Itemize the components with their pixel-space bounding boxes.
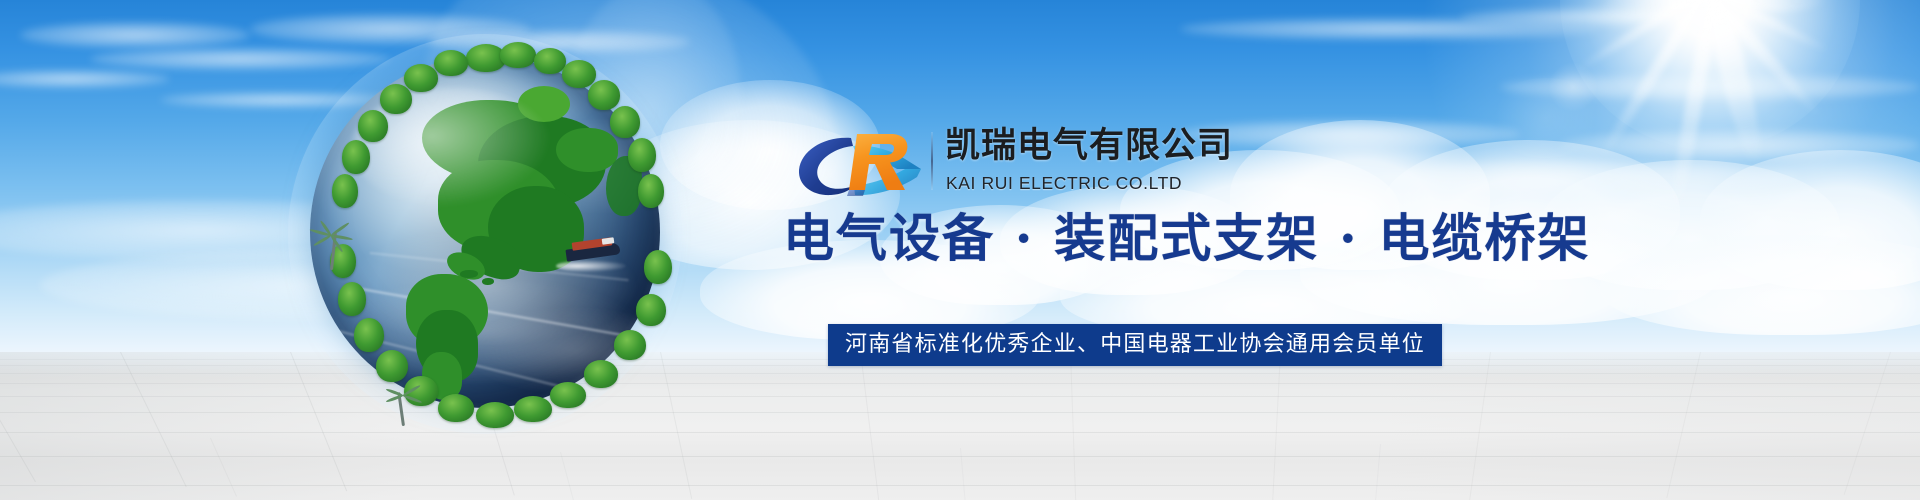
- tree-tuft: [434, 50, 468, 76]
- brand-block: 凯瑞电气有限公司 KAI RUI ELECTRIC CO.LTD 电气设备 · …: [793, 120, 1493, 370]
- tree-tuft: [636, 294, 666, 326]
- palm-tree: [312, 224, 352, 270]
- tree-tuft: [644, 250, 672, 284]
- tree-tuft: [638, 174, 664, 208]
- hero-tagline: 电气设备 · 装配式支架 · 电缆桥架: [783, 208, 1591, 270]
- tree-tuft: [338, 282, 366, 316]
- company-name-en: KAI RUI ELECTRIC CO.LTD: [946, 172, 1182, 194]
- tree-tuft: [588, 80, 620, 110]
- palm-tree: [384, 384, 424, 428]
- tree-tuft: [562, 60, 596, 88]
- tree-tuft: [500, 42, 536, 68]
- tree-tuft: [342, 140, 370, 174]
- tree-tuft: [550, 382, 586, 408]
- company-name-cn: 凯瑞电气有限公司: [945, 126, 1233, 166]
- tree-tuft: [438, 394, 474, 422]
- tree-tuft: [358, 110, 388, 142]
- certification-badge-text: 河南省标准化优秀企业、中国电器工业协会通用会员单位: [845, 332, 1425, 357]
- tree-tuft: [354, 318, 384, 352]
- tree-tuft: [514, 396, 552, 422]
- tree-tuft: [610, 106, 640, 138]
- tree-tuft: [584, 360, 618, 388]
- cloud-wisp: [20, 22, 250, 48]
- tree-tuft: [404, 64, 438, 92]
- tree-tuft: [614, 330, 646, 360]
- tree-tuft: [628, 138, 656, 172]
- tree-tuft: [476, 402, 514, 428]
- hero-banner: 凯瑞电气有限公司 KAI RUI ELECTRIC CO.LTD 电气设备 · …: [0, 0, 1920, 500]
- palm-frond: [313, 234, 332, 247]
- certification-badge: 河南省标准化优秀企业、中国电器工业协会通用会员单位: [828, 324, 1442, 366]
- tree-tuft: [376, 350, 408, 382]
- lens-flare: [1486, 78, 1606, 158]
- cr-monogram-icon: [793, 128, 925, 200]
- palm-frond: [402, 394, 422, 404]
- tree-tuft: [332, 174, 358, 208]
- globe-illustration: [288, 38, 678, 430]
- tree-tuft: [380, 84, 412, 114]
- logo-divider: [931, 132, 933, 190]
- tree-tuft: [534, 48, 566, 74]
